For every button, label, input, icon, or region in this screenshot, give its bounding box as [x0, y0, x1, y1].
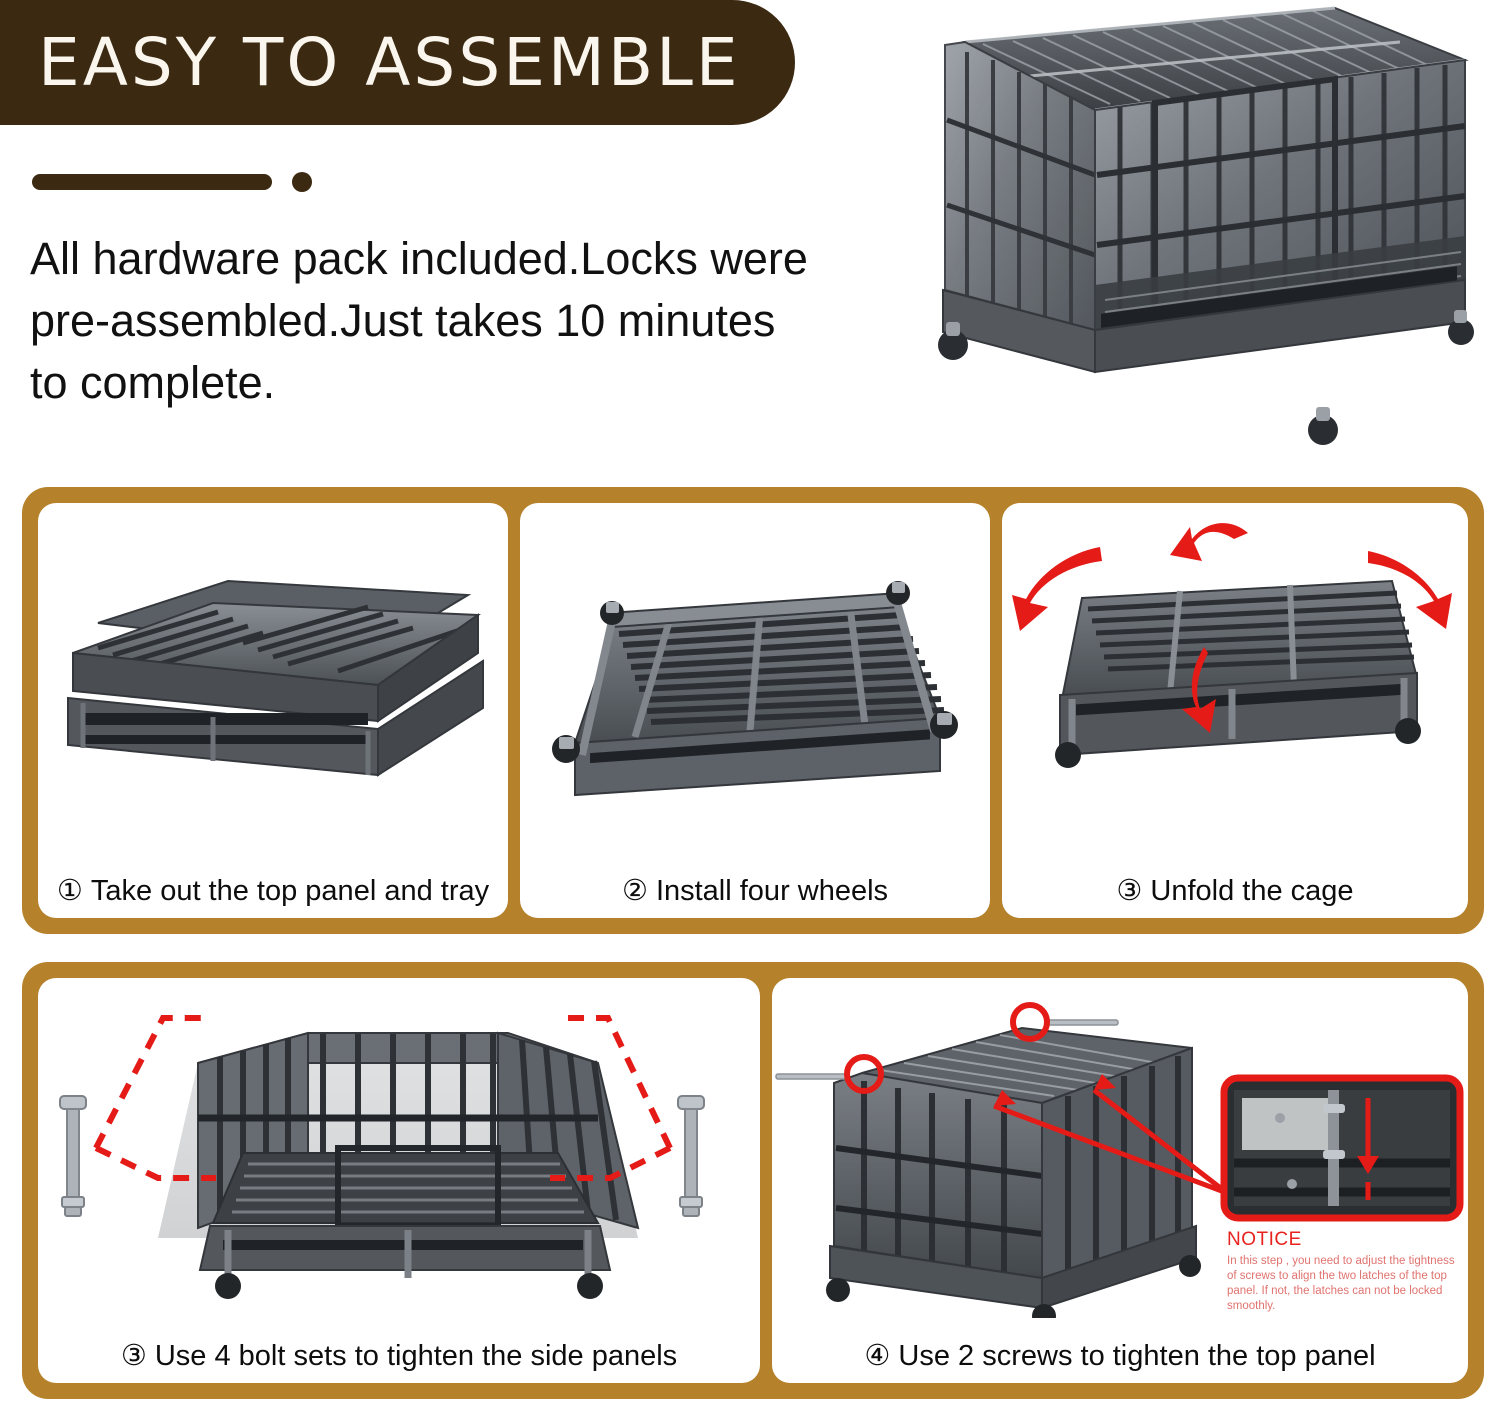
step-1-image [38, 503, 508, 852]
step-4-label: Use 4 bolt sets to tighten the side pane… [155, 1340, 677, 1372]
step-5-image: NOTICE In this step , you need to adjust… [772, 978, 1468, 1317]
intro-paragraph: All hardware pack included.Locks were pr… [30, 228, 820, 414]
step-3-label: Unfold the cage [1150, 875, 1353, 907]
notice-body: In this step , you need to adjust the ti… [1227, 1254, 1455, 1314]
hero-crate-image [905, 0, 1495, 460]
notice-block: NOTICE In this step , you need to adjust… [1227, 1228, 1455, 1340]
step-card-2: ②Install four wheels [520, 503, 990, 918]
step-3-caption: ③Unfold the cage [1002, 873, 1468, 908]
step-4-number: ③ [121, 1340, 147, 1372]
step-2-image [520, 503, 990, 852]
step-5-number: ④ [864, 1340, 890, 1372]
step-2-number: ② [622, 875, 648, 907]
step-card-4: ③Use 4 bolt sets to tighten the side pan… [38, 978, 760, 1383]
step-5-caption: ④Use 2 screws to tighten the top panel [772, 1338, 1468, 1373]
header-banner: EASY TO ASSEMBLE [0, 0, 795, 125]
step-card-3: ③Unfold the cage [1002, 503, 1468, 918]
steps-row-2-frame: ③Use 4 bolt sets to tighten the side pan… [22, 962, 1484, 1399]
step-3-number: ③ [1116, 875, 1142, 907]
bolt-right [678, 1096, 704, 1216]
bolt-left [60, 1096, 86, 1216]
step-1-label: Take out the top panel and tray [91, 875, 489, 907]
decor-dot [292, 172, 312, 192]
steps-row-1-frame: ①Take out the top panel and tray [22, 487, 1484, 934]
decor-dash-dot [32, 172, 312, 192]
detail-inset [1224, 1078, 1460, 1218]
step-4-caption: ③Use 4 bolt sets to tighten the side pan… [38, 1338, 760, 1373]
page-title: EASY TO ASSEMBLE [0, 24, 741, 101]
step-1-number: ① [57, 875, 83, 907]
step-3-image [1002, 503, 1468, 852]
step-card-5: NOTICE In this step , you need to adjust… [772, 978, 1468, 1383]
step-4-image [38, 978, 760, 1317]
step-5-label: Use 2 screws to tighten the top panel [898, 1340, 1375, 1372]
step-2-caption: ②Install four wheels [520, 873, 990, 908]
step-card-1: ①Take out the top panel and tray [38, 503, 508, 918]
decor-bar [32, 174, 272, 190]
notice-title: NOTICE [1227, 1228, 1455, 1252]
step-1-caption: ①Take out the top panel and tray [38, 873, 508, 908]
step-2-label: Install four wheels [656, 875, 888, 907]
